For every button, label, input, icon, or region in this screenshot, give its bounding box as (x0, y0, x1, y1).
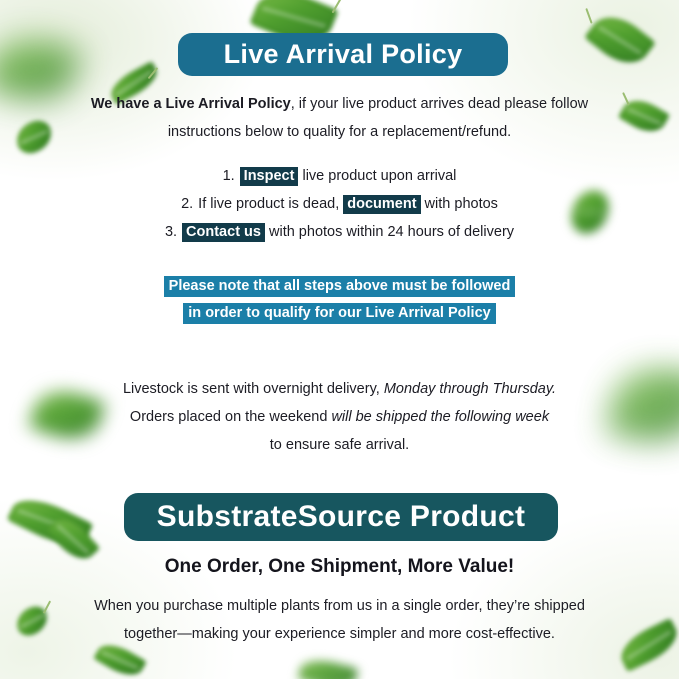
step-text: live product upon arrival (298, 168, 456, 184)
step-number: 1. (223, 168, 235, 184)
policy-step-3: 3.Contact us with photos within 24 hours… (0, 224, 679, 240)
step-number: 2. (181, 196, 193, 212)
step-highlight-document: document (343, 195, 420, 214)
note-line-2-wrap: in order to qualify for our Live Arrival… (0, 303, 679, 324)
promo-panel: Live Arrival Policy We have a Live Arriv… (0, 0, 679, 679)
policy-step-1: 1.Inspect live product upon arrival (0, 168, 679, 184)
note-line-1-wrap: Please note that all steps above must be… (0, 276, 679, 297)
product-closing-paragraph: When you purchase multiple plants from u… (0, 592, 679, 648)
note-line-2: in order to qualify for our Live Arrival… (183, 303, 495, 324)
livestock-line3: to ensure safe arrival. (0, 431, 679, 459)
live-arrival-policy-banner: Live Arrival Policy (178, 33, 508, 76)
product-subheadline: One Order, One Shipment, More Value! (0, 556, 679, 578)
policy-step-2: 2.If live product is dead, document with… (0, 196, 679, 212)
note-line-1: Please note that all steps above must be… (164, 276, 516, 297)
intro-bold-lead: We have a Live Arrival Policy (91, 96, 291, 112)
step-text-before: If live product is dead, (198, 196, 343, 212)
step-text: with photos within 24 hours of delivery (265, 224, 514, 240)
intro-paragraph: We have a Live Arrival Policy, if your l… (0, 90, 679, 146)
livestock-line2-italic: will be shipped the following week (331, 409, 549, 425)
step-number: 3. (165, 224, 177, 240)
livestock-line1-italic: Monday through Thursday. (384, 381, 556, 397)
intro-line1-rest: , if your live product arrives dead plea… (291, 96, 588, 112)
closing-line-1: When you purchase multiple plants from u… (0, 592, 679, 620)
step-text: with photos (421, 196, 498, 212)
livestock-shipping-paragraph: Livestock is sent with overnight deliver… (0, 375, 679, 459)
closing-line-2: together—making your experience simpler … (0, 620, 679, 648)
livestock-line2-text: Orders placed on the weekend (130, 409, 332, 425)
intro-line2: instructions below to quality for a repl… (0, 118, 679, 146)
substratesource-product-banner: SubstrateSource Product (124, 493, 558, 541)
step-highlight-contact-us[interactable]: Contact us (182, 223, 265, 242)
step-highlight-inspect: Inspect (240, 167, 299, 186)
livestock-line1-text: Livestock is sent with overnight deliver… (123, 381, 384, 397)
